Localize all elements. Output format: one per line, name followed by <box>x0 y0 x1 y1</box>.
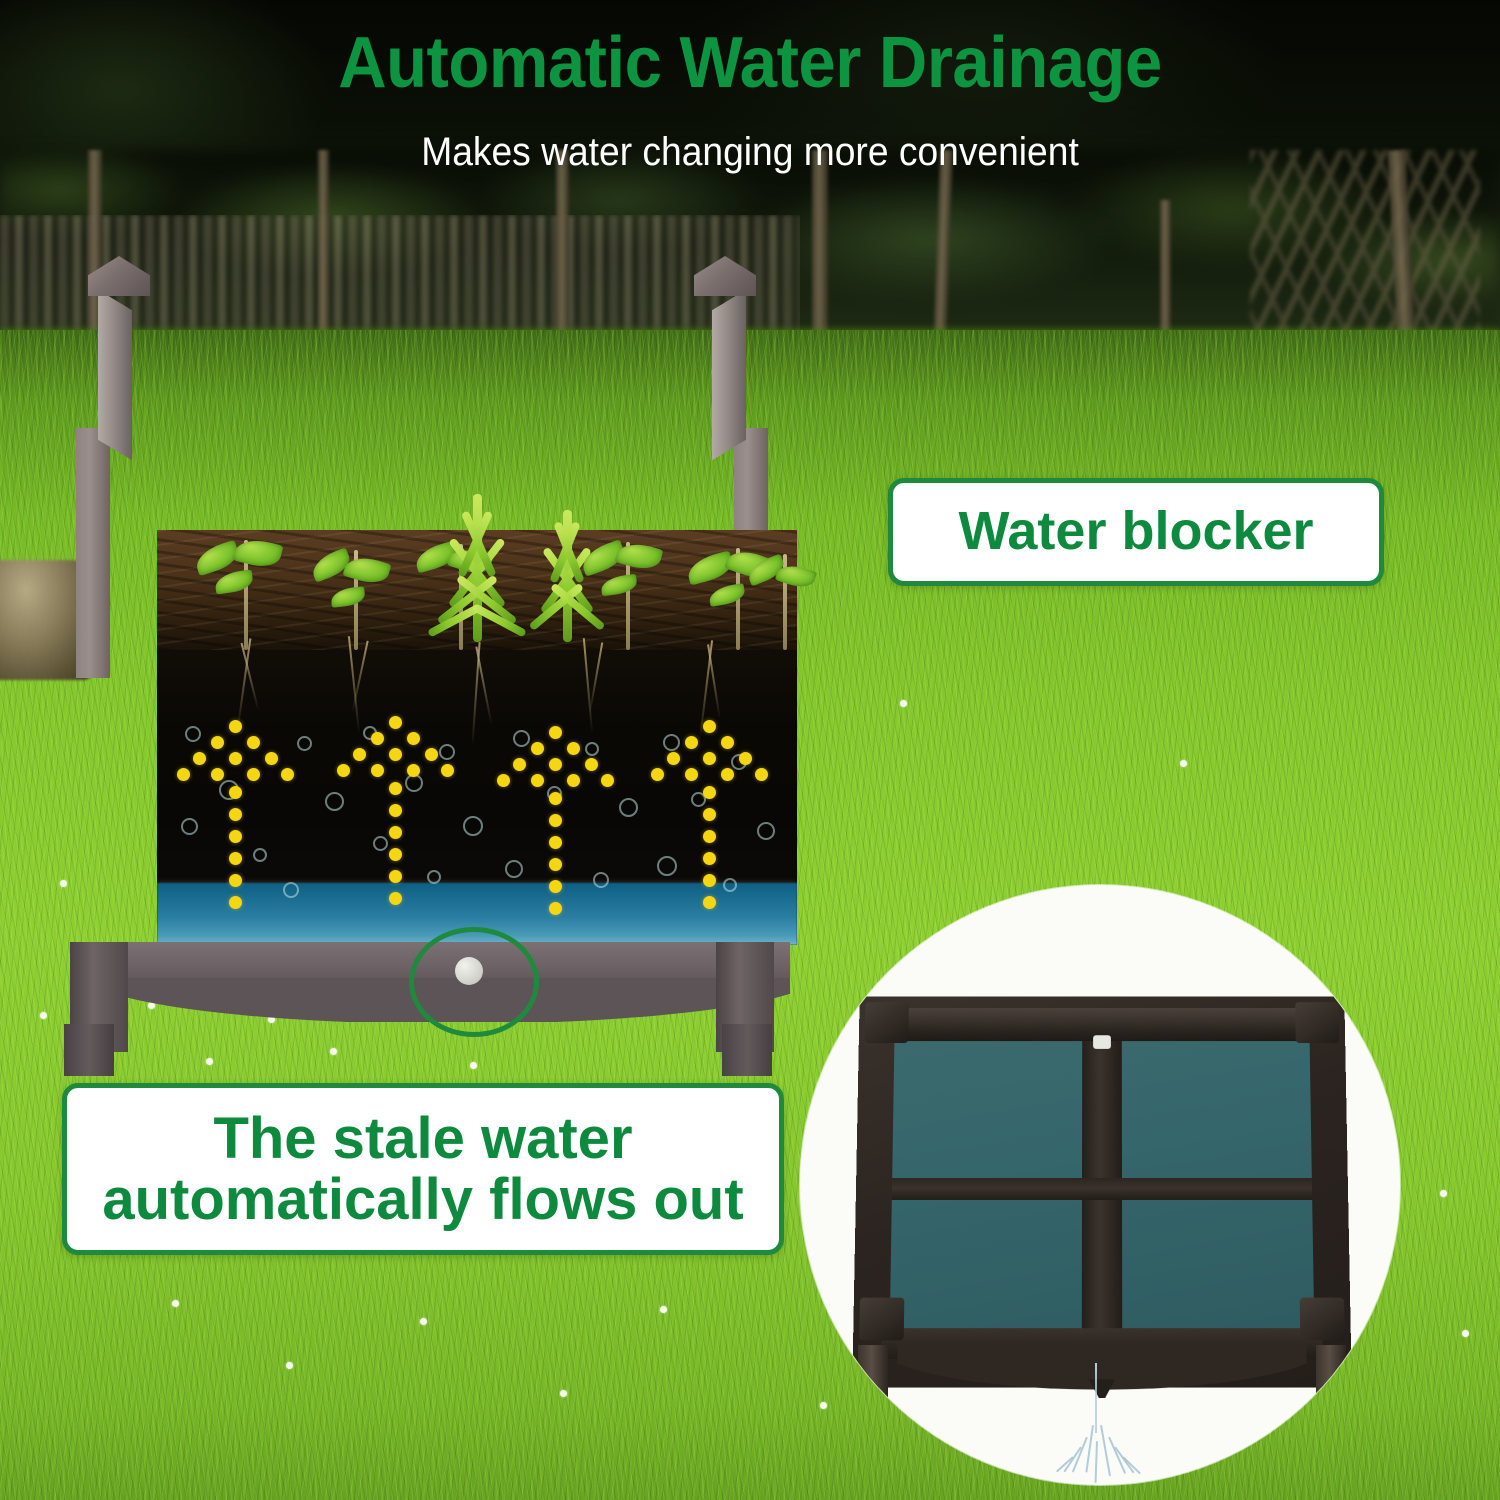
planter-post-left <box>76 428 110 678</box>
seedling <box>211 540 281 650</box>
marketing-image-canvas: Automatic Water Drainage Makes water cha… <box>0 0 1500 1500</box>
tray-corner <box>859 1298 904 1341</box>
seedling <box>323 550 389 650</box>
planter-foot-right <box>722 1024 772 1076</box>
tray-top-bar <box>887 1008 1318 1041</box>
tray-leg-left <box>858 1345 888 1397</box>
planter-rail-right <box>712 290 746 460</box>
planter-rail-left <box>98 290 132 460</box>
seedling <box>757 554 813 650</box>
callout-stale-water-line2: automatically flows out <box>102 1167 743 1232</box>
tray-corner <box>1300 1298 1345 1341</box>
callout-water-blocker-label: Water blocker <box>958 503 1313 560</box>
page-title: Automatic Water Drainage <box>53 22 1448 104</box>
planter-corner-cap-right <box>694 256 756 296</box>
tray-drain-plug <box>1093 1035 1111 1049</box>
callout-water-blocker: Water blocker <box>888 478 1384 586</box>
planter-base-tray <box>856 993 1348 1385</box>
product-planter-cutaway <box>62 252 782 797</box>
planter-corner-cap-left <box>88 256 150 296</box>
planter-foot-left <box>64 1024 114 1076</box>
drain-highlight-ring-icon <box>409 927 539 1037</box>
tray-corner <box>865 1002 909 1043</box>
tray-frame <box>852 996 1352 1387</box>
planter-seedlings <box>157 530 797 650</box>
seedling <box>595 542 661 650</box>
callout-stale-water-line1: The stale water <box>213 1106 632 1171</box>
tray-corner <box>1295 1002 1339 1043</box>
tray-rib-horizontal <box>892 1178 1312 1200</box>
page-subtitle: Makes water changing more convenient <box>53 130 1448 175</box>
callout-stale-water-text: The stale water automatically flows out <box>102 1108 743 1231</box>
tray-leg-right <box>1316 1345 1346 1397</box>
callout-stale-water: The stale water automatically flows out <box>62 1083 784 1255</box>
inset-photo-base-tray <box>800 885 1400 1485</box>
